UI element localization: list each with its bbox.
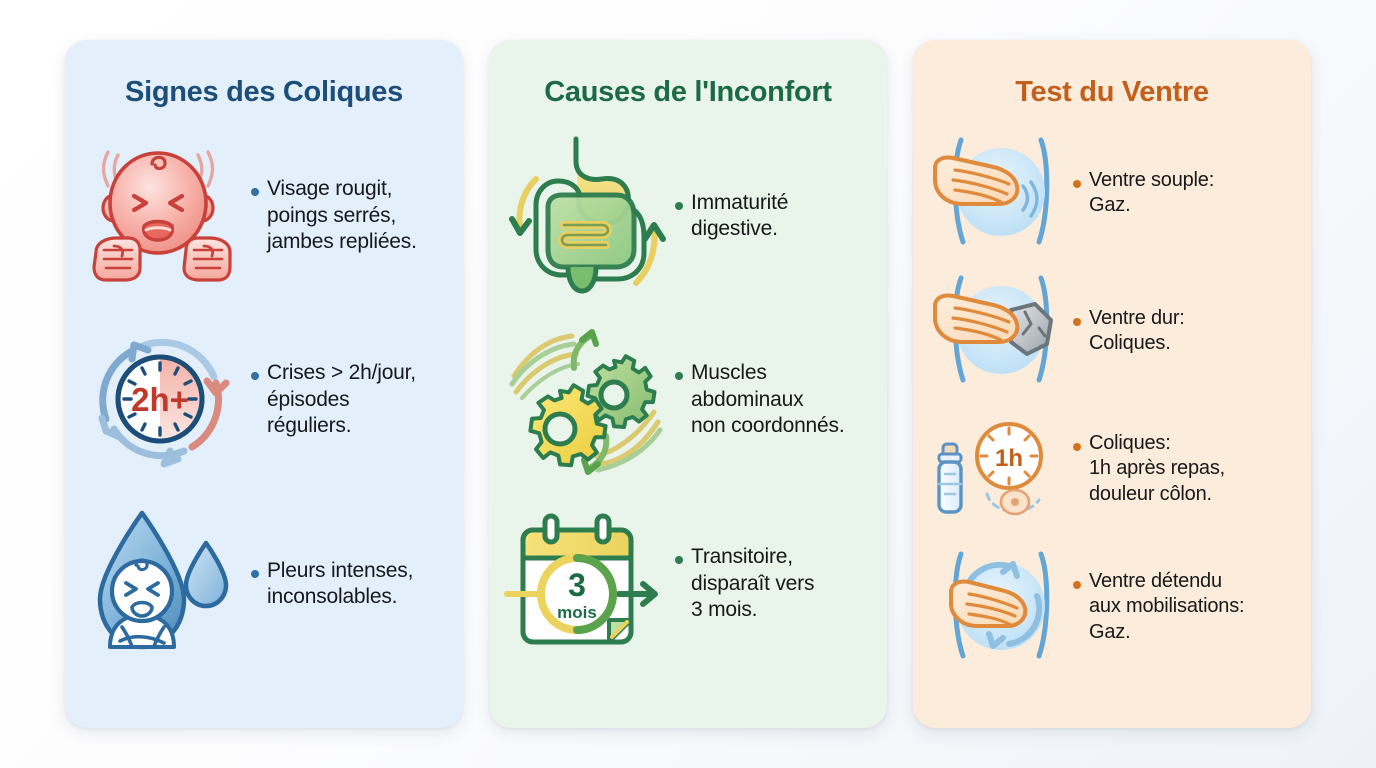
bullet-text: Immaturité digestive. — [691, 190, 788, 243]
list-item: Ventre détendu aux mobilisations: Gaz. — [927, 537, 1295, 675]
bullet-text: Transitoire, disparaît vers 3 mois. — [691, 544, 814, 623]
calendar-3-months-icon: 3 mois — [503, 500, 669, 666]
crying-baby-face-icon — [79, 132, 245, 298]
bullet-text: Ventre dur: Coliques. — [1089, 306, 1185, 356]
list-item: Immaturité digestive. — [503, 123, 871, 307]
list-item: Ventre souple: Gaz. — [927, 123, 1295, 261]
bullet-dot — [251, 570, 259, 578]
bullet-text: Pleurs intenses, inconsolables. — [267, 558, 413, 611]
bullet-causes-3: Transitoire, disparaît vers 3 mois. — [675, 542, 871, 623]
list-item: 3 mois Transitoire, disparaît vers 3 moi… — [503, 491, 871, 675]
bullet-text: Ventre détendu aux mobilisations: Gaz. — [1089, 569, 1244, 645]
bottle-clock-label: 1h — [995, 445, 1023, 472]
list-item: Ventre dur: Coliques. — [927, 261, 1295, 399]
list-item: Muscles abdominaux non coordonnés. — [503, 307, 871, 491]
calendar-unit-label: mois — [557, 603, 597, 622]
list-item: 1h Coliques: 1h après repas, douleur côl… — [927, 399, 1295, 537]
card-test-rows: Ventre souple: Gaz. — [913, 113, 1311, 675]
bullet-test-3: Coliques: 1h après repas, douleur côlon. — [1073, 429, 1295, 507]
bullet-text: Muscles abdominaux non coordonnés. — [691, 360, 844, 439]
bullet-test-2: Ventre dur: Coliques. — [1073, 304, 1295, 356]
card-title-causes: Causes de l'Inconfort — [489, 76, 887, 109]
digestive-system-icon — [503, 132, 669, 298]
hand-on-soft-belly-icon — [927, 130, 1067, 254]
clock-2h-plus-icon: 2h+ — [79, 316, 245, 482]
bullet-dot — [675, 556, 683, 564]
card-signes-rows: Visage rougit, poings serrés, jambes rep… — [65, 113, 463, 675]
bullet-dot — [675, 202, 683, 210]
bullet-text: Ventre souple: Gaz. — [1089, 168, 1214, 218]
hand-on-hard-belly-icon — [927, 268, 1067, 392]
bullet-dot — [1073, 443, 1081, 451]
bullet-dot — [251, 188, 259, 196]
bullet-text: Crises > 2h/jour, épisodes réguliers. — [267, 360, 416, 439]
card-title-test: Test du Ventre — [913, 76, 1311, 109]
list-item: Pleurs intenses, inconsolables. — [79, 491, 447, 675]
teardrop-crying-baby-icon — [79, 500, 245, 666]
list-item: Visage rougit, poings serrés, jambes rep… — [79, 123, 447, 307]
card-causes-rows: Immaturité digestive. — [489, 113, 887, 675]
bullet-signes-2: Crises > 2h/jour, épisodes réguliers. — [251, 358, 447, 439]
bullet-dot — [1073, 581, 1081, 589]
bullet-signes-1: Visage rougit, poings serrés, jambes rep… — [251, 174, 447, 255]
card-test-du-ventre: Test du Ventre — [913, 40, 1311, 728]
bottle-clock-1h-icon: 1h — [927, 406, 1067, 530]
bullet-dot — [251, 372, 259, 380]
clock-icon-label: 2h+ — [131, 381, 189, 418]
hand-massage-belly-icon — [927, 544, 1067, 668]
infographic-board: Signes des Coliques — [0, 0, 1376, 768]
bullet-test-4: Ventre détendu aux mobilisations: Gaz. — [1073, 567, 1295, 645]
gears-muscle-fibers-icon — [503, 316, 669, 482]
card-title-signes: Signes des Coliques — [65, 76, 463, 109]
bullet-test-1: Ventre souple: Gaz. — [1073, 166, 1295, 218]
list-item: 2h+ Crises > 2h/jour, épisodes réguliers… — [79, 307, 447, 491]
card-signes-des-coliques: Signes des Coliques — [65, 40, 463, 728]
bullet-text: Visage rougit, poings serrés, jambes rep… — [267, 176, 417, 255]
bullet-causes-2: Muscles abdominaux non coordonnés. — [675, 358, 871, 439]
bullet-dot — [1073, 180, 1081, 188]
card-causes-de-linconfort: Causes de l'Inconfort — [489, 40, 887, 728]
bullet-dot — [675, 372, 683, 380]
bullet-text: Coliques: 1h après repas, douleur côlon. — [1089, 431, 1225, 507]
bullet-causes-1: Immaturité digestive. — [675, 188, 871, 243]
calendar-number-label: 3 — [568, 567, 586, 603]
bullet-dot — [1073, 318, 1081, 326]
bullet-signes-3: Pleurs intenses, inconsolables. — [251, 556, 447, 611]
